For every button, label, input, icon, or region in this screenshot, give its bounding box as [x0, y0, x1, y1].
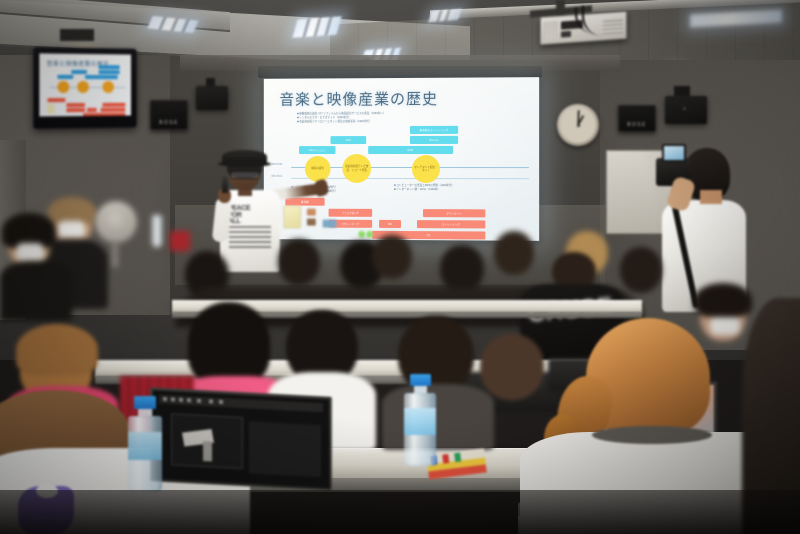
- slide-title: 音楽と映像産業の歴史: [279, 88, 438, 110]
- audience-head: [278, 239, 320, 285]
- monitor-movie-bar: [57, 75, 73, 79]
- lecture-hall-photo: 音楽と映像産業の歴史 映像技術の進化 / 8ミリフィルムから動画配信サービスの普…: [0, 0, 800, 534]
- water-bottle-2: [404, 374, 436, 466]
- bose-speaker-right: BOSE: [618, 105, 656, 132]
- slide-bullets-movie: 映像技術の進化 / 8ミリフィルムから動画配信サービスの普及（1950年〜） レ…: [297, 112, 527, 125]
- ceiling-speaker-left: [196, 86, 228, 110]
- wall-monitor[interactable]: 音楽と映像産業の歴史: [33, 47, 136, 129]
- monitor-milestone-circle: [57, 81, 69, 93]
- audience-head: [372, 235, 412, 279]
- water-bottle-1: [128, 396, 162, 492]
- fan-grill: [103, 209, 129, 235]
- audience-head: [188, 302, 270, 386]
- face-mask: [16, 243, 44, 262]
- monitor-movie-bar: [99, 70, 120, 74]
- slide-bullet: 家庭用録画テクノロジーとネット配信の技術革新（1990年代）: [297, 120, 527, 125]
- monitor-music-bar: [66, 103, 85, 107]
- monitor-music-bar: [101, 108, 126, 112]
- bottle-label: [404, 408, 436, 435]
- bose-logo: BOSE: [627, 122, 647, 128]
- water-bottle-desk: [152, 215, 162, 247]
- audience-head: [480, 334, 544, 400]
- face-mask: [58, 221, 85, 238]
- monitor-milestone-circle: [77, 81, 89, 93]
- monitor-music-bar: [83, 113, 125, 117]
- microphone[interactable]: [222, 176, 228, 193]
- shirt-collar: [592, 426, 712, 444]
- laptop-screen: [153, 390, 329, 487]
- slide-bullets-music-right: コンピューターの普及とMP3の登場（1990年代） インターネット網・ADSL（…: [394, 184, 525, 192]
- presenter-hat-brim: [218, 161, 271, 167]
- monitor-milestone-circle: [102, 81, 113, 93]
- bose-speaker-left: BOSE: [150, 100, 188, 130]
- ceiling-light-panel-2: [292, 16, 341, 37]
- audience-hair: [16, 324, 98, 376]
- wall-monitor-screen: 音楽と映像産業の歴史: [39, 53, 131, 116]
- movie-bar: VHS: [331, 136, 367, 144]
- monitor-music-bar: [47, 98, 65, 102]
- bose-logo: BOSE: [159, 120, 179, 126]
- monitor-movie-bar: [85, 75, 118, 79]
- laptop-left[interactable]: [150, 387, 332, 491]
- movie-bar: DVD: [368, 146, 453, 154]
- floor-shadow: [0, 490, 800, 534]
- speaker-bracket-right: [674, 86, 690, 97]
- fan-stand: [112, 241, 118, 267]
- monitor-music-bar: [102, 103, 125, 107]
- movie-bar: 動画配信ストリーミング: [410, 126, 458, 134]
- milestone-circle: 家庭用録画テレビ放送・レコード普及: [342, 154, 371, 183]
- monitor-wall-bracket: [60, 29, 94, 41]
- speaker-bracket-left: [206, 78, 215, 87]
- red-box: [170, 231, 190, 251]
- screen-roller-frame: [258, 66, 542, 78]
- monitor-movie-bar: [99, 65, 120, 69]
- milestone-circle: オンデマンド配信・ネット: [412, 155, 440, 183]
- slide-bullet: インターネット網・ADSL（1999年）: [394, 188, 525, 192]
- ceiling-speaker-right: [665, 96, 707, 124]
- monitor-music-bar: [87, 108, 97, 112]
- presenter-glasses: [230, 171, 260, 179]
- movie-bar: Blu-ray: [410, 136, 458, 144]
- camcorder-lcd-screen: [662, 144, 686, 162]
- audience-torso: [382, 384, 494, 450]
- monitor-thumbnail: [47, 104, 54, 113]
- bottle-label: [128, 432, 162, 460]
- monitor-music-bar: [66, 108, 85, 112]
- monitor-movie-bar: [71, 70, 87, 74]
- wall-clock: [557, 104, 599, 146]
